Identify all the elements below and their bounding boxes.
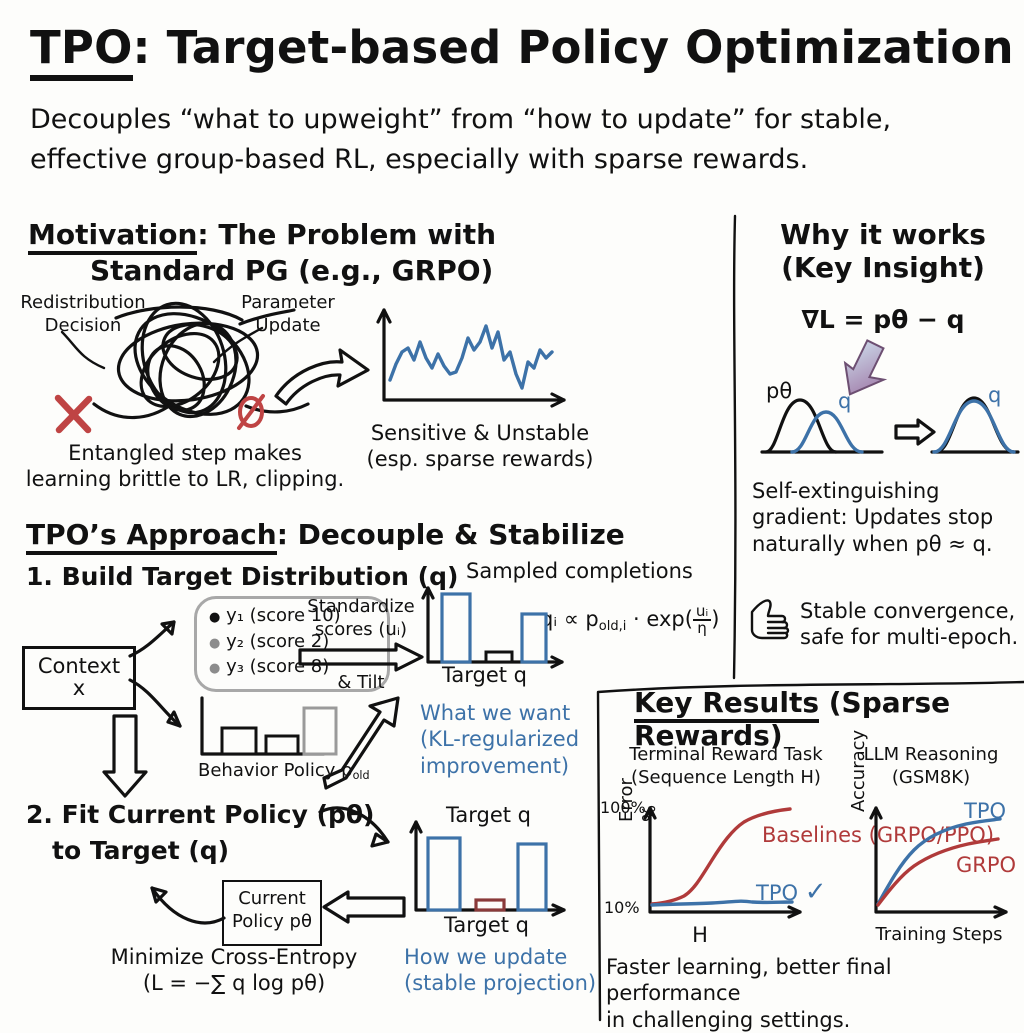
x-axis-label-training-steps: Training Steps <box>864 924 1014 947</box>
step1-title: 1. Build Target Distribution (q) <box>26 562 458 592</box>
motivation-heading-line2: Standard PG (e.g., GRPO) <box>90 254 550 287</box>
thumbs-up-icon <box>748 596 794 642</box>
approach-heading-rest: : Decouple & Stabilize <box>277 518 625 551</box>
approach-heading-underlined: TPO’s Approach <box>26 518 277 555</box>
y-axis-tick-10: 10% <box>604 898 640 918</box>
legend-tpo-right: TPO <box>964 798 1006 824</box>
bullet-dot-1: ● <box>209 610 220 625</box>
legend-tpo-left: TPO ✓ <box>756 876 827 909</box>
check-mark-icon: ✓ <box>805 877 827 907</box>
bullet-dot-2: ● <box>209 636 220 651</box>
connector-parameter <box>200 326 270 370</box>
current-policy-line1: Current <box>224 888 320 911</box>
label-q-after: q <box>988 382 1001 408</box>
motivation-heading-rest: : The Problem with <box>197 218 496 251</box>
why-heading: Why it works (Key Insight) <box>748 218 1018 284</box>
standardize-label: Standardize scores (uᵢ) <box>296 596 426 641</box>
unstable-chart-caption: Sensitive & Unstable (esp. sparse reward… <box>360 420 600 473</box>
chart-behavior-policy-p-old <box>196 692 336 764</box>
arrow-context-to-candidates-icon <box>128 612 188 662</box>
step2-title-line2: to Target (q) <box>52 836 229 866</box>
label-q-before: q <box>838 388 851 414</box>
standardize-block-arrow-icon <box>298 642 426 672</box>
page-title: TPO: Target-based Policy Optimization <box>30 24 1014 71</box>
label-p-theta: pθ <box>766 378 792 404</box>
terminal-reward-task-title: Terminal Reward Task (Sequence Length H) <box>606 744 846 789</box>
x-axis-label-h: H <box>680 922 720 948</box>
why-thumb-text: Stable convergence, safe for multi-epoch… <box>800 598 1024 651</box>
results-heading: Key Results (Sparse Rewards) <box>634 686 1024 752</box>
red-theta-slash-icon <box>232 390 272 434</box>
arrow-target-to-policy-icon <box>322 890 408 926</box>
chart-distributions-after <box>930 382 1024 462</box>
motivation-heading-underlined: Motivation <box>28 218 197 255</box>
formula-subscript: old,i <box>599 619 627 634</box>
context-value: x <box>25 675 133 701</box>
bullet-dot-3: ● <box>209 661 220 676</box>
formula-paren-close: ) <box>711 607 719 631</box>
target-q-axis-label-step1: Target q <box>442 662 527 688</box>
chart-unstable-training-curve <box>374 302 574 414</box>
minimize-cross-entropy-note: Minimize Cross-Entropy (L = −∑ q log pθ) <box>84 944 384 997</box>
red-x-icon <box>52 392 96 436</box>
results-footer: Faster learning, better final performanc… <box>606 954 1018 1033</box>
approach-heading: TPO’s Approach: Decouple & Stabilize <box>26 518 625 551</box>
arrow-diagonal-up-icon <box>322 694 412 792</box>
motivation-caption: Entangled step makes learning brittle to… <box>20 440 350 493</box>
chart-target-distribution-step2 <box>404 818 580 924</box>
context-box: Context x <box>22 646 136 710</box>
formula-paren-open: ( <box>685 607 693 631</box>
arrow-policy-loop-icon <box>142 872 228 934</box>
legend-grpo-right: GRPO <box>956 852 1016 878</box>
title-rest: : Target-based Policy Optimization <box>133 21 1014 74</box>
why-gradient-formula: ∇L = pθ − q <box>748 305 1018 335</box>
arrow-to-unstable-chart-icon <box>272 348 372 412</box>
title-acronym: TPO <box>30 21 133 81</box>
what-we-want-note: What we want (KL-regularized improvement… <box>420 700 600 779</box>
subtitle-line-1: Decouples “what to upweight” from “how t… <box>30 102 1000 137</box>
connector-redistribution <box>58 330 128 376</box>
why-body-text: Self-extinguishing gradient: Updates sto… <box>752 478 1024 557</box>
arrow-down-to-step2-icon <box>100 714 152 800</box>
tilt-label: & Tilt <box>296 672 426 695</box>
how-we-update-note: How we update (stable projection) <box>404 944 604 997</box>
infographic-page: TPO: Target-based Policy Optimization De… <box>0 0 1024 1024</box>
vertical-divider <box>725 212 749 682</box>
target-q-label-bottom: Target q <box>444 912 529 938</box>
current-policy-box: Current Policy pθ <box>222 880 322 946</box>
results-heading-underlined: Key Results <box>634 686 819 723</box>
llm-reasoning-title: LLM Reasoning (GSM8K) <box>846 744 1016 789</box>
formula-fraction: uᵢη <box>693 604 711 636</box>
arrow-step2-to-chart-icon <box>318 800 404 856</box>
motivation-heading: Motivation: The Problem with <box>28 218 496 251</box>
current-policy-line2: Policy pθ <box>224 911 320 934</box>
sampled-completions-label: Sampled completions <box>466 558 693 584</box>
subtitle-line-2: effective group-based RL, especially wit… <box>30 142 1000 177</box>
